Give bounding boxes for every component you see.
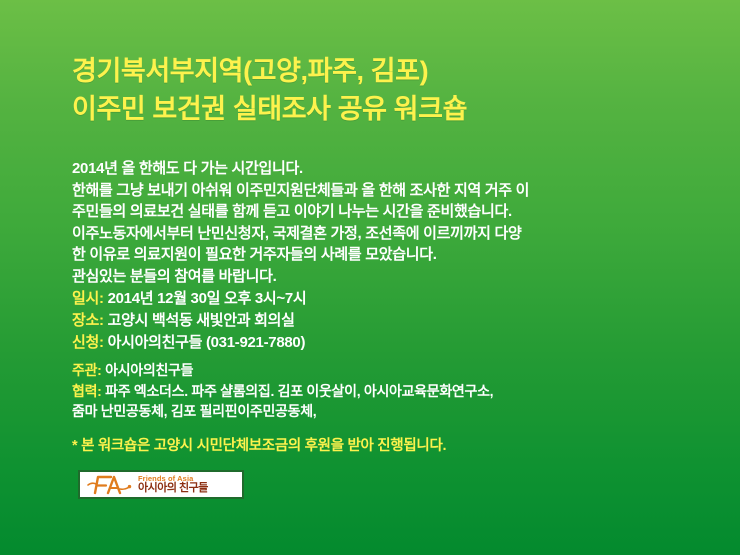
detail-value-registration: 아시아의친구들 (031-921-7880) — [104, 334, 305, 351]
organization-logo: Friends of Asia 아시아의 친구들 — [78, 470, 244, 499]
detail-label-datetime: 일시: — [72, 290, 104, 307]
organizers-block: 주관: 아시아의친구들 협력: 파주 엑소더스. 파주 샬롬의집. 김포 이웃살… — [72, 360, 722, 422]
funding-footnote: * 본 워크숍은 고양시 시민단체보조금의 후원을 받아 진행됩니다. — [72, 436, 446, 456]
logo-text-block: Friends of Asia 아시아의 친구들 — [136, 475, 238, 495]
organizer-partners-value-line-1: 파주 엑소더스. 파주 샬롬의집. 김포 이웃살이, 아시아교육문화연구소, — [102, 383, 494, 399]
poster-title: 경기북서부지역(고양,파주, 김포) 이주민 보건권 실태조사 공유 워크숍 — [72, 52, 712, 128]
detail-row-location: 장소: 고양시 백석동 새빛안과 회의실 — [72, 310, 672, 332]
intro-paragraph: 2014년 올 한해도 다 가는 시간입니다. 한해를 그냥 보내기 아쉬워 이… — [72, 158, 722, 287]
organizer-partners-value-line-2: 줌마 난민공동체, 김포 필리핀이주민공동체, — [72, 403, 316, 419]
intro-line: 이주노동자에서부터 난민신청자, 국제결혼 가정, 조선족에 이르끼까지 다양 — [72, 223, 722, 245]
poster-canvas: 경기북서부지역(고양,파주, 김포) 이주민 보건권 실태조사 공유 워크숍 2… — [0, 0, 740, 555]
fa-monogram-icon — [84, 472, 136, 497]
detail-label-registration: 신청: — [72, 334, 104, 351]
detail-row-registration: 신청: 아시아의친구들 (031-921-7880) — [72, 332, 672, 354]
organizer-partners-label: 협력: — [72, 383, 102, 399]
event-details: 일시: 2014년 12월 30일 오후 3시~7시 장소: 고양시 백석동 새… — [72, 288, 672, 354]
detail-value-datetime: 2014년 12월 30일 오후 3시~7시 — [104, 290, 307, 307]
organizer-partners-row-continued: 줌마 난민공동체, 김포 필리핀이주민공동체, — [72, 401, 722, 422]
organizer-host-label: 주관: — [72, 362, 102, 378]
detail-label-location: 장소: — [72, 312, 104, 329]
organizer-host-row: 주관: 아시아의친구들 — [72, 360, 722, 381]
intro-line: 주민들의 의료보건 실태를 함께 듣고 이야기 나누는 시간을 준비했습니다. — [72, 201, 722, 223]
detail-value-location: 고양시 백석동 새빛안과 회의실 — [104, 312, 295, 329]
title-line-1: 경기북서부지역(고양,파주, 김포) — [72, 52, 712, 90]
organizer-host-value: 아시아의친구들 — [102, 362, 194, 378]
intro-line: 관심있는 분들의 참여를 바랍니다. — [72, 266, 722, 288]
organizer-partners-row: 협력: 파주 엑소더스. 파주 샬롬의집. 김포 이웃살이, 아시아교육문화연구… — [72, 381, 722, 402]
logo-korean-name: 아시아의 친구들 — [138, 483, 238, 494]
title-line-2: 이주민 보건권 실태조사 공유 워크숍 — [72, 90, 712, 128]
detail-row-datetime: 일시: 2014년 12월 30일 오후 3시~7시 — [72, 288, 672, 310]
intro-line: 한해를 그냥 보내기 아쉬워 이주민지원단체들과 올 한해 조사한 지역 거주 … — [72, 180, 722, 202]
intro-line: 한 이유로 의료지원이 필요한 거주자들의 사례를 모았습니다. — [72, 244, 722, 266]
intro-line: 2014년 올 한해도 다 가는 시간입니다. — [72, 158, 722, 180]
